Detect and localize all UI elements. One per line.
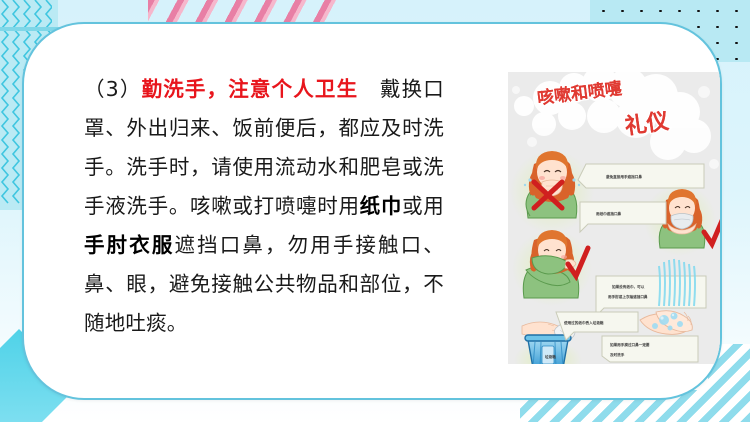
paragraph-part-2: 或用 bbox=[402, 194, 444, 218]
poster-bin-label: 垃圾箱 bbox=[545, 354, 556, 359]
poster-caption-4: 使用过的纸巾丢入垃圾箱 bbox=[563, 320, 604, 325]
item-number: （3） bbox=[84, 77, 142, 101]
poster-caption-3a: 如果没有纸巾，可以 bbox=[612, 284, 645, 289]
poster-bubble-5: 如果用手摸过口鼻一定要 及时洗手 bbox=[602, 336, 698, 362]
body-paragraph: （3）勤洗手，注意个人卫生 戴换口罩、外出归来、饭前便后，都应及时洗手。洗手时，… bbox=[24, 24, 444, 343]
poster-caption-2: 用纸巾遮挡口鼻 bbox=[595, 211, 622, 216]
poster-caption-5b: 及时洗手 bbox=[610, 352, 625, 357]
poster-caption-3b: 用手肘或上衣袖遮挡口鼻 bbox=[607, 294, 648, 299]
content-card: （3）勤洗手，注意个人卫生 戴换口罩、外出归来、饭前便后，都应及时洗手。洗手时，… bbox=[22, 22, 722, 400]
cough-etiquette-poster: 咳嗽和喷嚏 咳嗽和喷嚏 礼仪 礼仪 bbox=[508, 72, 722, 364]
section-heading: 勤洗手，注意个人卫生 bbox=[142, 77, 359, 101]
emphasis-elbow-sleeve: 手肘衣服 bbox=[84, 233, 174, 257]
poster-figure-3 bbox=[512, 230, 592, 306]
slide-background: （3）勤洗手，注意个人卫生 戴换口罩、外出归来、饭前便后，都应及时洗手。洗手时，… bbox=[0, 0, 750, 422]
emphasis-tissue: 纸巾 bbox=[360, 194, 402, 218]
poster-caption-1: 避免直接用手遮挡口鼻 bbox=[605, 174, 642, 179]
poster-caption-5a: 如果用手摸过口鼻一定要 bbox=[610, 342, 650, 347]
poster-trash-bin: 垃圾箱 bbox=[525, 335, 571, 364]
